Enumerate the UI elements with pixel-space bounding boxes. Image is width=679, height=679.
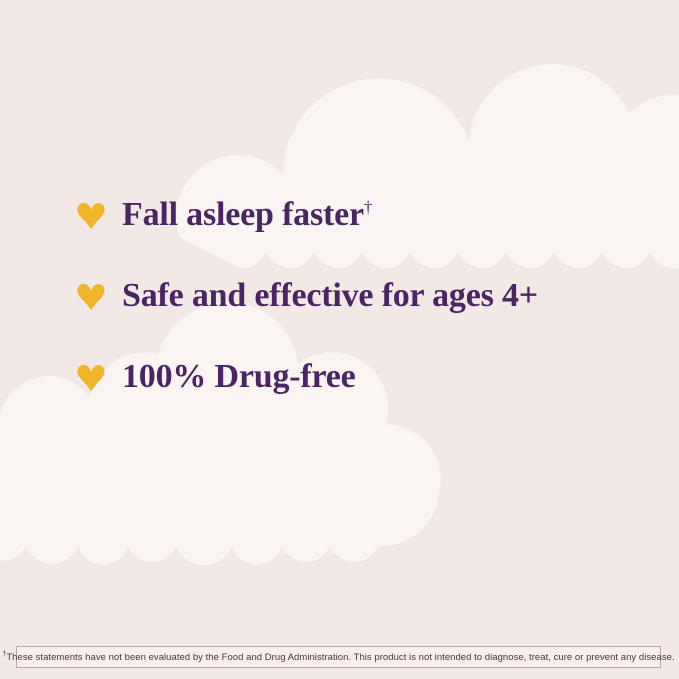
benefit-item-1: Fall asleep faster† <box>74 193 372 237</box>
benefit-label: Fall asleep faster† <box>122 193 372 237</box>
disclaimer-body: These statements have not been evaluated… <box>6 652 674 663</box>
benefit-text-3: 100% Drug-free <box>122 358 356 395</box>
benefit-text-1: Fall asleep faster <box>122 196 364 233</box>
benefit-label: Safe and effective for ages 4+ <box>122 274 538 318</box>
benefit-item-2: Safe and effective for ages 4+ <box>74 274 538 318</box>
disclaimer-box: †These statements have not been evaluate… <box>16 646 661 668</box>
benefit-superscript-1: † <box>364 198 372 217</box>
heart-icon <box>74 360 108 394</box>
benefits-list: Fall asleep faster† Safe and effective f… <box>0 0 679 679</box>
disclaimer-label: †These statements have not been evaluate… <box>2 652 674 663</box>
heart-icon <box>74 198 108 232</box>
benefits-card: Fall asleep faster† Safe and effective f… <box>0 0 679 679</box>
benefit-text-2: Safe and effective for ages 4+ <box>122 277 538 314</box>
benefit-item-3: 100% Drug-free <box>74 355 356 399</box>
benefit-label: 100% Drug-free <box>122 355 356 399</box>
heart-icon <box>74 279 108 313</box>
